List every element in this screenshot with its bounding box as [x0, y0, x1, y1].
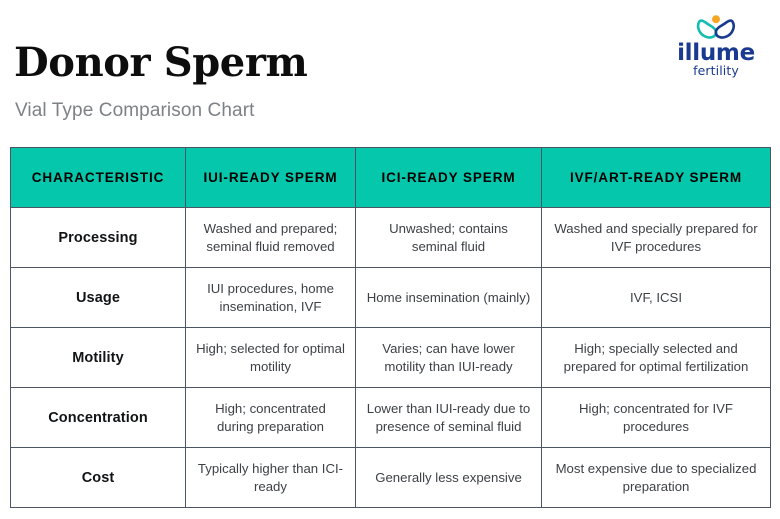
- cell-processing-ivf: Washed and specially prepared for IVF pr…: [542, 208, 771, 268]
- cell-processing-ici: Unwashed; contains seminal fluid: [356, 208, 542, 268]
- page-subtitle: Vial Type Comparison Chart: [15, 99, 255, 123]
- cell-motility-ivf: High; specially selected and prepared fo…: [542, 328, 771, 388]
- table-row: Usage IUI procedures, home insemination,…: [11, 268, 771, 328]
- row-label-motility: Motility: [11, 328, 186, 388]
- cell-cost-iui: Typically higher than ICI-ready: [186, 448, 356, 508]
- row-label-usage: Usage: [11, 268, 186, 328]
- cell-concentration-ivf: High; concentrated for IVF procedures: [542, 388, 771, 448]
- logo-wordmark: illume: [670, 41, 762, 65]
- page-title: Donor Sperm: [14, 40, 307, 86]
- table-header: CHARACTERISTIC IUI-READY SPERM ICI-READY…: [11, 148, 771, 208]
- column-header-ici-ready: ICI-READY SPERM: [356, 148, 542, 208]
- cell-motility-iui: High; selected for optimal motility: [186, 328, 356, 388]
- column-header-iui-ready: IUI-READY SPERM: [186, 148, 356, 208]
- row-label-cost: Cost: [11, 448, 186, 508]
- table-row: Motility High; selected for optimal moti…: [11, 328, 771, 388]
- cell-concentration-iui: High; concentrated during preparation: [186, 388, 356, 448]
- table-header-row: CHARACTERISTIC IUI-READY SPERM ICI-READY…: [11, 148, 771, 208]
- cell-usage-iui: IUI procedures, home insemination, IVF: [186, 268, 356, 328]
- vial-type-comparison-table: CHARACTERISTIC IUI-READY SPERM ICI-READY…: [10, 147, 771, 508]
- cell-usage-ivf: IVF, ICSI: [542, 268, 771, 328]
- cell-usage-ici: Home insemination (mainly): [356, 268, 542, 328]
- table-row: Concentration High; concentrated during …: [11, 388, 771, 448]
- cell-cost-ici: Generally less expensive: [356, 448, 542, 508]
- logo-tagline: fertility: [670, 64, 762, 78]
- illume-fertility-logo: illume fertility: [670, 15, 762, 77]
- table-row: Processing Washed and prepared; seminal …: [11, 208, 771, 268]
- butterfly-wings-icon: [696, 15, 736, 41]
- table-body: Processing Washed and prepared; seminal …: [11, 208, 771, 508]
- comparison-table-container: CHARACTERISTIC IUI-READY SPERM ICI-READY…: [10, 147, 770, 508]
- cell-motility-ici: Varies; can have lower motility than IUI…: [356, 328, 542, 388]
- row-label-processing: Processing: [11, 208, 186, 268]
- comparison-chart-page: Donor Sperm Vial Type Comparison Chart i…: [0, 0, 780, 519]
- column-header-characteristic: CHARACTERISTIC: [11, 148, 186, 208]
- cell-cost-ivf: Most expensive due to specialized prepar…: [542, 448, 771, 508]
- cell-concentration-ici: Lower than IUI-ready due to presence of …: [356, 388, 542, 448]
- table-row: Cost Typically higher than ICI-ready Gen…: [11, 448, 771, 508]
- row-label-concentration: Concentration: [11, 388, 186, 448]
- page-header: Donor Sperm Vial Type Comparison Chart i…: [0, 0, 780, 148]
- column-header-ivf-art-ready: IVF/ART-READY SPERM: [542, 148, 771, 208]
- cell-processing-iui: Washed and prepared; seminal fluid remov…: [186, 208, 356, 268]
